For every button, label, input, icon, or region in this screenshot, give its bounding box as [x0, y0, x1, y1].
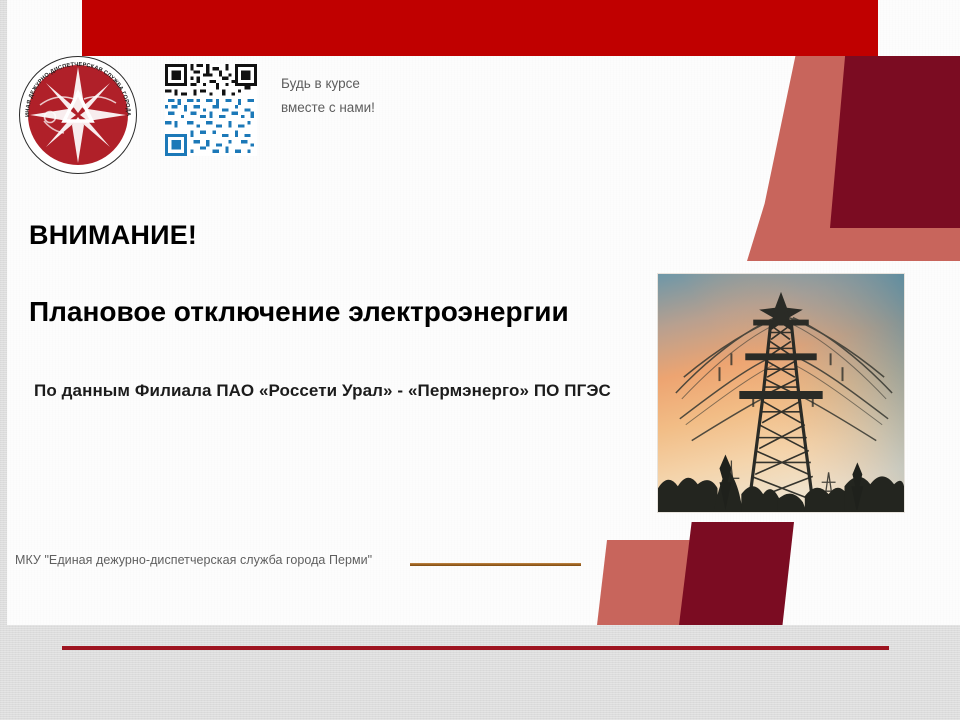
slide-sheet: МКУ "ЕДИНАЯ ДЕЖУРНО-ДИСПЕТЧЕРСКАЯ СЛУЖБА… — [7, 0, 960, 625]
svg-text:МКУ "ЕДИНАЯ ДЕЖУРНО-ДИСПЕТЧЕРС: МКУ "ЕДИНАЯ ДЕЖУРНО-ДИСПЕТЧЕРСКАЯ СЛУЖБА… — [19, 56, 131, 117]
footer-organization: МКУ "Единая дежурно-диспетчерская служба… — [15, 553, 372, 567]
qr-code-icon[interactable] — [165, 64, 257, 156]
tagline-text: Будь в курсе вместе с нами! — [281, 72, 375, 119]
attention-heading: ВНИМАНИЕ! — [29, 220, 197, 251]
header-row: МКУ "ЕДИНАЯ ДЕЖУРНО-ДИСПЕТЧЕРСКАЯ СЛУЖБА… — [19, 56, 375, 174]
top-red-band — [82, 0, 878, 56]
page-title: Плановое отключение электроэнергии — [29, 296, 569, 328]
page-bottom-rule — [62, 646, 889, 650]
footer-accent-rule — [410, 563, 581, 566]
decorative-bottom-dark-red-quad — [679, 522, 794, 625]
data-source-line: По данным Филиала ПАО «Россети Урал» - «… — [34, 381, 611, 401]
qr-code-wrapper[interactable] — [165, 64, 257, 156]
emblem-ring-text-path: МКУ "ЕДИНАЯ ДЕЖУРНО-ДИСПЕТЧЕРСКАЯ СЛУЖБА… — [19, 56, 131, 117]
power-transmission-tower-photo — [657, 273, 905, 513]
edds-perm-emblem-icon: МКУ "ЕДИНАЯ ДЕЖУРНО-ДИСПЕТЧЕРСКАЯ СЛУЖБА… — [19, 56, 137, 174]
emblem-ring-text: МКУ "ЕДИНАЯ ДЕЖУРНО-ДИСПЕТЧЕРСКАЯ СЛУЖБА… — [19, 56, 137, 174]
decorative-dark-red-quad — [830, 56, 960, 228]
slide-canvas: МКУ "ЕДИНАЯ ДЕЖУРНО-ДИСПЕТЧЕРСКАЯ СЛУЖБА… — [0, 0, 960, 720]
